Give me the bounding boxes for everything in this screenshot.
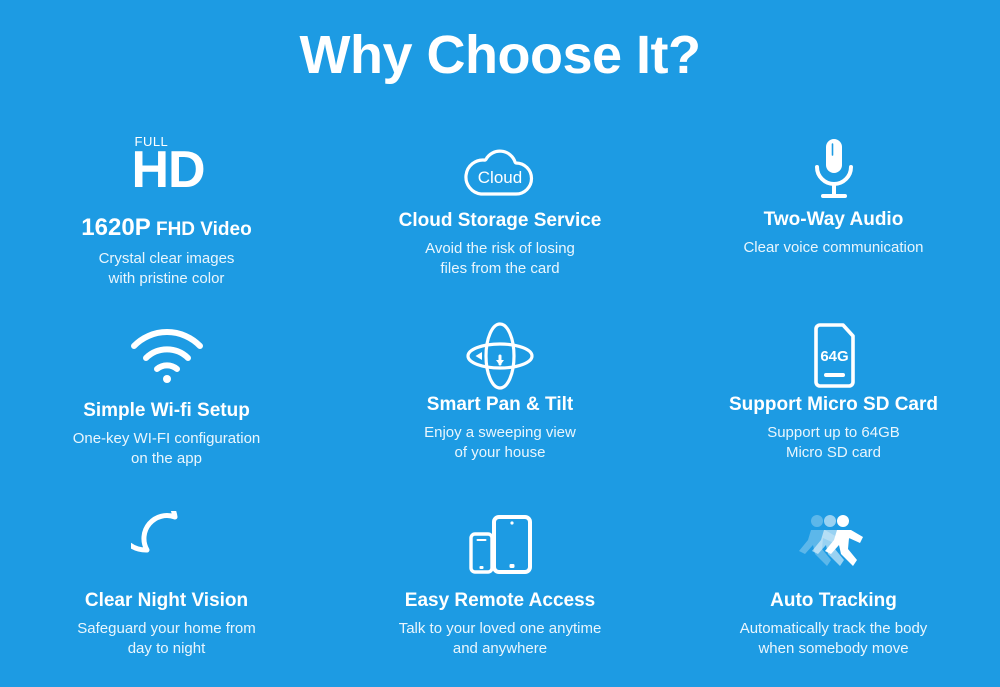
feature-subtitle-line: of your house	[424, 443, 576, 463]
feature-card-cloud-storage: Cloud Cloud Storage Service Avoid the ri…	[333, 128, 667, 316]
microphone-icon	[804, 128, 864, 214]
feature-card-night-vision: Clear Night Vision Safeguard your home f…	[0, 504, 333, 687]
feature-title: Support Micro SD Card	[729, 394, 938, 416]
feature-subtitle: Avoid the risk of losing files from the …	[425, 239, 575, 279]
feature-subtitle-line: on the app	[73, 449, 261, 469]
feature-subtitle-line: Clear voice communication	[743, 238, 923, 258]
feature-title: Cloud Storage Service	[399, 210, 602, 232]
feature-subtitle: Safeguard your home from day to night	[77, 619, 255, 659]
devices-icon	[460, 504, 540, 586]
feature-title: Clear Night Vision	[85, 590, 248, 612]
feature-card-sd-card: 64G Support Micro SD Card Support up to …	[667, 316, 1000, 504]
feature-title: Easy Remote Access	[405, 590, 595, 612]
feature-subtitle-line: Safeguard your home from	[77, 619, 255, 639]
feature-subtitle-line: day to night	[77, 639, 255, 659]
feature-subtitle-line: and anywhere	[399, 639, 602, 659]
promo-page: Why Choose It? FULL HD 1620P FHD Video C…	[0, 0, 1000, 687]
feature-subtitle-line: Crystal clear images	[99, 249, 235, 269]
feature-title: Two-Way Audio	[764, 209, 904, 231]
pan-tilt-icon	[460, 316, 540, 396]
feature-title: Smart Pan & Tilt	[427, 394, 573, 416]
feature-title-rest: FHD Video	[156, 219, 252, 240]
wifi-icon	[126, 316, 208, 396]
page-title: Why Choose It?	[0, 24, 1000, 86]
feature-card-remote-access: Easy Remote Access Talk to your loved on…	[333, 504, 667, 687]
feature-grid: FULL HD 1620P FHD Video Crystal clear im…	[0, 128, 1000, 687]
feature-card-pan-tilt: Smart Pan & Tilt Enjoy a sweeping view o…	[333, 316, 667, 504]
feature-card-wifi-setup: Simple Wi-fi Setup One-key WI-FI configu…	[0, 316, 333, 504]
cloud-icon: Cloud	[457, 128, 543, 214]
feature-title: Auto Tracking	[770, 590, 897, 612]
sd-card-icon: 64G	[803, 316, 865, 396]
feature-title: 1620P FHD Video	[81, 214, 251, 242]
moon-icon	[131, 504, 203, 586]
feature-card-two-way-audio: Two-Way Audio Clear voice communication	[667, 128, 1000, 316]
feature-subtitle-line: Automatically track the body	[740, 619, 928, 639]
feature-subtitle-line: Micro SD card	[767, 443, 900, 463]
feature-subtitle-line: when somebody move	[740, 639, 928, 659]
feature-card-auto-tracking: Auto Tracking Automatically track the bo…	[667, 504, 1000, 687]
feature-card-full-hd: FULL HD 1620P FHD Video Crystal clear im…	[0, 128, 333, 316]
feature-subtitle: One-key WI-FI configuration on the app	[73, 429, 261, 469]
feature-subtitle-line: Enjoy a sweeping view	[424, 423, 576, 443]
sd-capacity-label: 64G	[820, 348, 848, 365]
feature-subtitle-line: Support up to 64GB	[767, 423, 900, 443]
feature-subtitle-line: One-key WI-FI configuration	[73, 429, 261, 449]
feature-subtitle: Support up to 64GB Micro SD card	[767, 423, 900, 463]
feature-subtitle-line: Talk to your loved one anytime	[399, 619, 602, 639]
feature-subtitle-line: Avoid the risk of losing	[425, 239, 575, 259]
feature-subtitle: Enjoy a sweeping view of your house	[424, 423, 576, 463]
feature-subtitle-line: with pristine color	[99, 269, 235, 289]
feature-title-resolution: 1620P	[81, 214, 150, 241]
feature-subtitle-line: files from the card	[425, 259, 575, 279]
feature-subtitle: Crystal clear images with pristine color	[99, 249, 235, 289]
running-person-icon	[791, 504, 877, 586]
full-hd-large-label: HD	[132, 144, 205, 196]
cloud-inner-label: Cloud	[478, 168, 522, 187]
feature-subtitle: Clear voice communication	[743, 238, 923, 258]
full-hd-icon: FULL HD	[124, 128, 210, 212]
feature-title: Simple Wi-fi Setup	[83, 400, 250, 422]
feature-subtitle: Talk to your loved one anytime and anywh…	[399, 619, 602, 659]
feature-subtitle: Automatically track the body when somebo…	[740, 619, 928, 659]
